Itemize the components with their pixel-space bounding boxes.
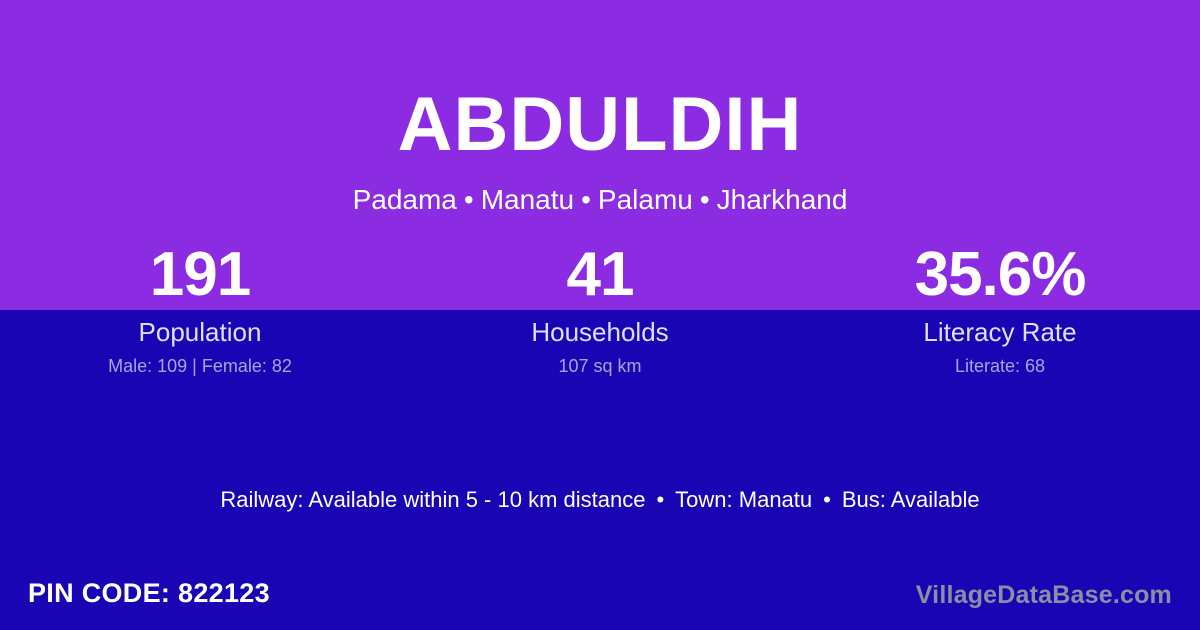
stat-literacy-rate-sub: Literate: 68 <box>800 354 1200 378</box>
breadcrumb-separator-1: • <box>457 183 481 217</box>
stats-row: 191 Population Male: 109 | Female: 82 41… <box>0 240 1200 390</box>
site-brand: VillageDataBase.com <box>916 579 1172 611</box>
stat-population-sub: Male: 109 | Female: 82 <box>0 354 400 378</box>
page-title: ABDULDIH <box>0 80 1200 170</box>
stat-population-label: Population <box>0 316 400 348</box>
stat-literacy-rate: 35.6% Literacy Rate Literate: 68 <box>800 240 1200 390</box>
stat-literacy-rate-label: Literacy Rate <box>800 316 1200 348</box>
stat-households-sub: 107 sq km <box>400 354 800 378</box>
village-info-card: ABDULDIH Padama•Manatu•Palamu•Jharkhand … <box>0 0 1200 630</box>
stat-households-value: 41 <box>400 240 800 310</box>
breadcrumb-separator-3: • <box>693 183 717 217</box>
facility-separator-2: • <box>812 486 842 514</box>
card-content: ABDULDIH Padama•Manatu•Palamu•Jharkhand … <box>0 0 1200 630</box>
facilities-line: Railway: Available within 5 - 10 km dist… <box>0 486 1200 514</box>
breadcrumb-state: Jharkhand <box>717 184 848 215</box>
breadcrumb-block: Manatu <box>481 184 574 215</box>
facility-bus: Bus: Available <box>842 487 980 512</box>
facility-town: Town: Manatu <box>675 487 812 512</box>
breadcrumb: Padama•Manatu•Palamu•Jharkhand <box>0 183 1200 217</box>
pin-code: PIN CODE: 822123 <box>28 576 270 610</box>
breadcrumb-district: Palamu <box>598 184 693 215</box>
stat-population-value: 191 <box>0 240 400 310</box>
breadcrumb-panchayat: Padama <box>353 184 457 215</box>
breadcrumb-separator-2: • <box>574 183 598 217</box>
facility-separator-1: • <box>645 486 675 514</box>
stat-households-label: Households <box>400 316 800 348</box>
stat-households: 41 Households 107 sq km <box>400 240 800 390</box>
stat-population: 191 Population Male: 109 | Female: 82 <box>0 240 400 390</box>
facility-railway: Railway: Available within 5 - 10 km dist… <box>220 487 645 512</box>
stat-literacy-rate-value: 35.6% <box>800 240 1200 310</box>
